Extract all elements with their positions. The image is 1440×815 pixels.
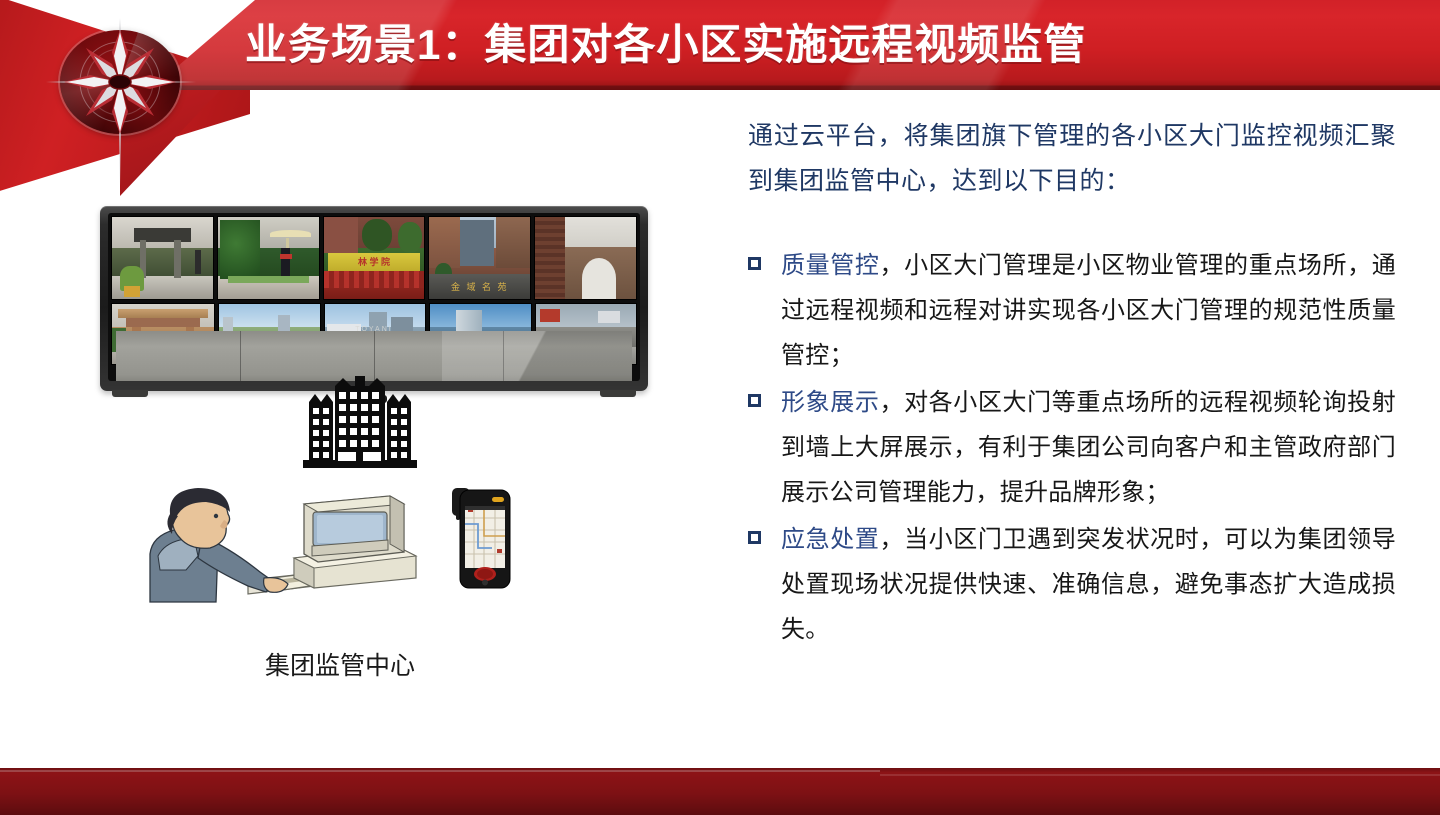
list-item: 质量管控，小区大门管理是小区物业管理的重点场所，通过远程视频和远程对讲实现各小区… bbox=[748, 244, 1396, 379]
operator-workstation-group bbox=[98, 484, 528, 604]
intro-paragraph: 通过云平台，将集团旗下管理的各小区大门监控视频汇聚到集团监管中心，达到以下目的： bbox=[748, 114, 1396, 204]
compass-star-glyph bbox=[56, 18, 184, 146]
monitoring-center-illustration: 林 学 院 金 域 名 苑 bbox=[90, 196, 690, 716]
video-tile-community-gate-4: 金 域 名 苑 bbox=[428, 216, 531, 300]
video-wall: 林 学 院 金 域 名 苑 bbox=[100, 206, 648, 391]
footer-highlight-right bbox=[880, 774, 1440, 776]
video-tile-community-gate-5 bbox=[534, 216, 637, 300]
video-tile-community-gate-1 bbox=[111, 216, 214, 300]
bullet-text: 形象展示，对各小区大门等重点场所的远程视频轮询投射到墙上大屏展示，有利于集团公司… bbox=[781, 381, 1396, 516]
compass-rose-icon bbox=[56, 18, 184, 146]
video-wall-top-row: 林 学 院 金 域 名 苑 bbox=[108, 216, 640, 300]
slide-footer bbox=[0, 768, 1440, 815]
video-tile-community-gate-3: 林 学 院 bbox=[323, 216, 426, 300]
content-column: 通过云平台，将集团旗下管理的各小区大门监控视频汇聚到集团监管中心，达到以下目的：… bbox=[748, 114, 1396, 655]
video-tile-4-caption: 金 域 名 苑 bbox=[451, 280, 509, 293]
hollow-square-bullet-icon bbox=[748, 531, 761, 544]
bullet-text: 质量管控，小区大门管理是小区物业管理的重点场所，通过远程视频和远程对讲实现各小区… bbox=[781, 244, 1396, 379]
illustration-caption: 集团监管中心 bbox=[90, 646, 590, 682]
bullet-lead: 形象展示 bbox=[781, 390, 879, 416]
video-wall-foot-left bbox=[112, 390, 148, 397]
video-wall-cabinet bbox=[116, 331, 632, 381]
office-building-icon bbox=[295, 376, 425, 468]
objectives-list: 质量管控，小区大门管理是小区物业管理的重点场所，通过远程视频和远程对讲实现各小区… bbox=[748, 244, 1396, 653]
rugged-smartphone-map-icon bbox=[450, 486, 514, 590]
list-item: 应急处置，当小区门卫遇到突发状况时，可以为集团领导处置现场状况提供快速、准确信息… bbox=[748, 518, 1396, 653]
bullet-lead: 质量管控 bbox=[781, 253, 879, 279]
hollow-square-bullet-icon bbox=[748, 394, 761, 407]
footer-highlight-left bbox=[0, 770, 880, 772]
bullet-lead: 应急处置 bbox=[781, 527, 879, 553]
list-item: 形象展示，对各小区大门等重点场所的远程视频轮询投射到墙上大屏展示，有利于集团公司… bbox=[748, 381, 1396, 516]
bullet-text: 应急处置，当小区门卫遇到突发状况时，可以为集团领导处置现场状况提供快速、准确信息… bbox=[781, 518, 1396, 653]
video-wall-screens: 林 学 院 金 域 名 苑 bbox=[108, 213, 640, 381]
video-tile-community-gate-2 bbox=[217, 216, 320, 300]
video-tile-3-caption: 林 学 院 bbox=[358, 255, 390, 268]
slide: 业务场景1：集团对各小区实施远程视频监管 bbox=[0, 0, 1440, 815]
hollow-square-bullet-icon bbox=[748, 257, 761, 270]
video-wall-brand-label: TOYANI bbox=[355, 326, 392, 333]
page-title: 业务场景1：集团对各小区实施远程视频监管 bbox=[245, 14, 1086, 76]
video-wall-foot-right bbox=[600, 390, 636, 397]
